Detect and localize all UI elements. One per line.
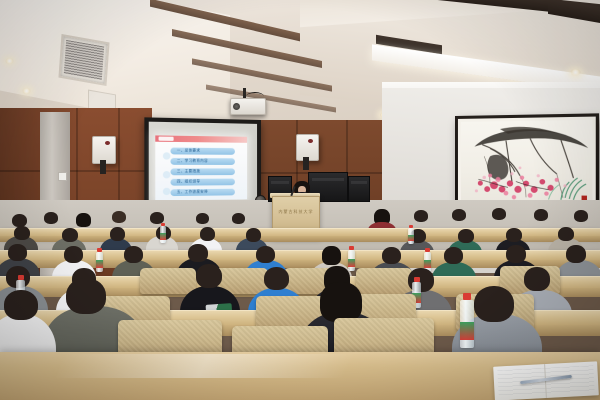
slide-agenda-text: 二、学习教育内容 bbox=[170, 159, 207, 163]
attendee-head-foreground bbox=[4, 290, 38, 320]
slide-agenda-item: 四、组织领导 bbox=[170, 178, 235, 186]
wall-speaker-left-mount bbox=[100, 160, 106, 174]
desk-glare bbox=[56, 354, 384, 378]
slide-agenda-item: 一、总体要求 bbox=[170, 147, 235, 155]
painting-artwork bbox=[461, 120, 593, 206]
ink-painting-svg bbox=[461, 120, 593, 206]
attendee-head-foreground bbox=[320, 282, 362, 322]
slide-decoration bbox=[163, 152, 171, 159]
slide-agenda-text: 五、工作进度安排 bbox=[170, 190, 207, 194]
slide-logo-icon bbox=[159, 137, 174, 141]
slide-agenda-item: 五、工作进度安排 bbox=[170, 188, 235, 196]
ac-vent-icon bbox=[58, 34, 109, 86]
attendee-head-foreground bbox=[474, 286, 514, 322]
attendee-head-foreground bbox=[66, 278, 106, 314]
slide-decoration bbox=[163, 171, 171, 178]
slide-header-band bbox=[155, 135, 247, 142]
projector-lens-icon bbox=[233, 103, 240, 110]
water-bottle-foreground bbox=[460, 300, 474, 348]
downlight-2 bbox=[22, 88, 31, 94]
wall-switch-plate bbox=[58, 172, 67, 181]
downlight-6 bbox=[570, 69, 581, 76]
wood-seam bbox=[0, 170, 152, 172]
slide-agenda-item: 二、学习教育内容 bbox=[170, 158, 235, 165]
wall-speaker-right-mount bbox=[303, 157, 309, 170]
slide-decoration bbox=[163, 188, 171, 195]
slide-agenda-text: 三、主要措施 bbox=[170, 170, 200, 174]
slide-agenda-item: 三、主要措施 bbox=[170, 168, 235, 175]
slide-agenda-text: 四、组织领导 bbox=[170, 180, 200, 184]
slide-agenda-text: 一、总体要求 bbox=[170, 149, 200, 153]
presentation-slide: 一、总体要求 二、学习教育内容 三、主要措施 四、组织领导 五、工作进度安排 bbox=[155, 135, 247, 200]
downlight-1 bbox=[5, 58, 14, 64]
conference-room-photo: 一、总体要求 二、学习教育内容 三、主要措施 四、组织领导 五、工作进度安排 bbox=[0, 0, 600, 400]
